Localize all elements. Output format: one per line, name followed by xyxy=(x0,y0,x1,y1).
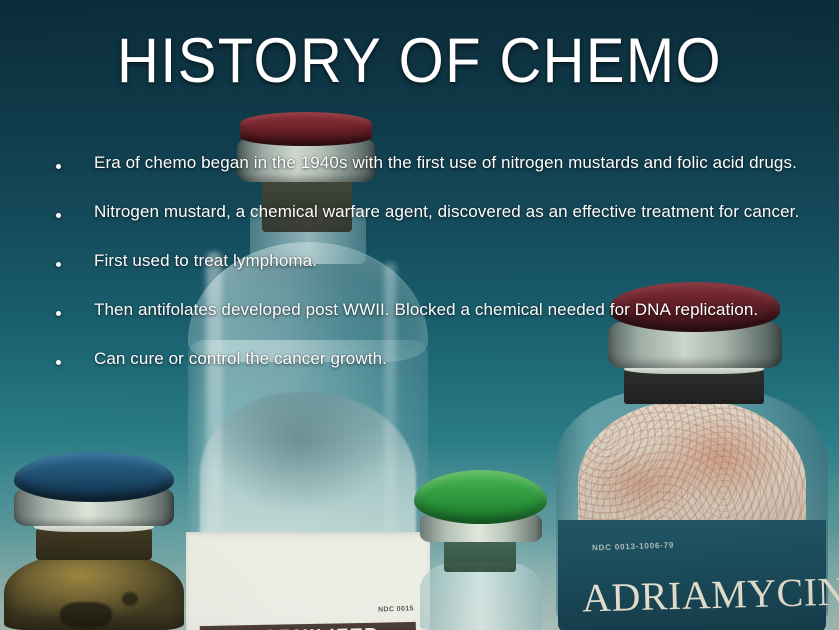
bullet-list: Era of chemo began in the 1940s with the… xyxy=(50,152,839,397)
bullet-item-4: Then antifolates developed post WWII. Bl… xyxy=(50,299,839,348)
bullet-item-2: Nitrogen mustard, a chemical warfare age… xyxy=(50,201,839,250)
slide-canvas: NDC 0015 LYOPHILIZED CYTOXAN NDC 0013-10… xyxy=(0,0,839,630)
bullet-marker-icon xyxy=(56,262,61,267)
bullet-item-3: First used to treat lymphoma. xyxy=(50,250,839,299)
bullet-item-5: Can cure or control the cancer growth. xyxy=(50,348,839,397)
bullet-text-3: First used to treat lymphoma. xyxy=(94,251,317,270)
bullet-marker-icon xyxy=(56,311,61,316)
bullet-item-1: Era of chemo began in the 1940s with the… xyxy=(50,152,839,201)
bullet-text-2: Nitrogen mustard, a chemical warfare age… xyxy=(94,202,799,221)
bullet-marker-icon xyxy=(56,360,61,365)
bullet-text-5: Can cure or control the cancer growth. xyxy=(94,349,387,368)
bullet-text-1: Era of chemo began in the 1940s with the… xyxy=(94,153,797,172)
bullet-marker-icon xyxy=(56,164,61,169)
bullet-marker-icon xyxy=(56,213,61,218)
slide-title: HISTORY OF CHEMO xyxy=(34,26,806,96)
bullet-text-4: Then antifolates developed post WWII. Bl… xyxy=(94,300,758,319)
